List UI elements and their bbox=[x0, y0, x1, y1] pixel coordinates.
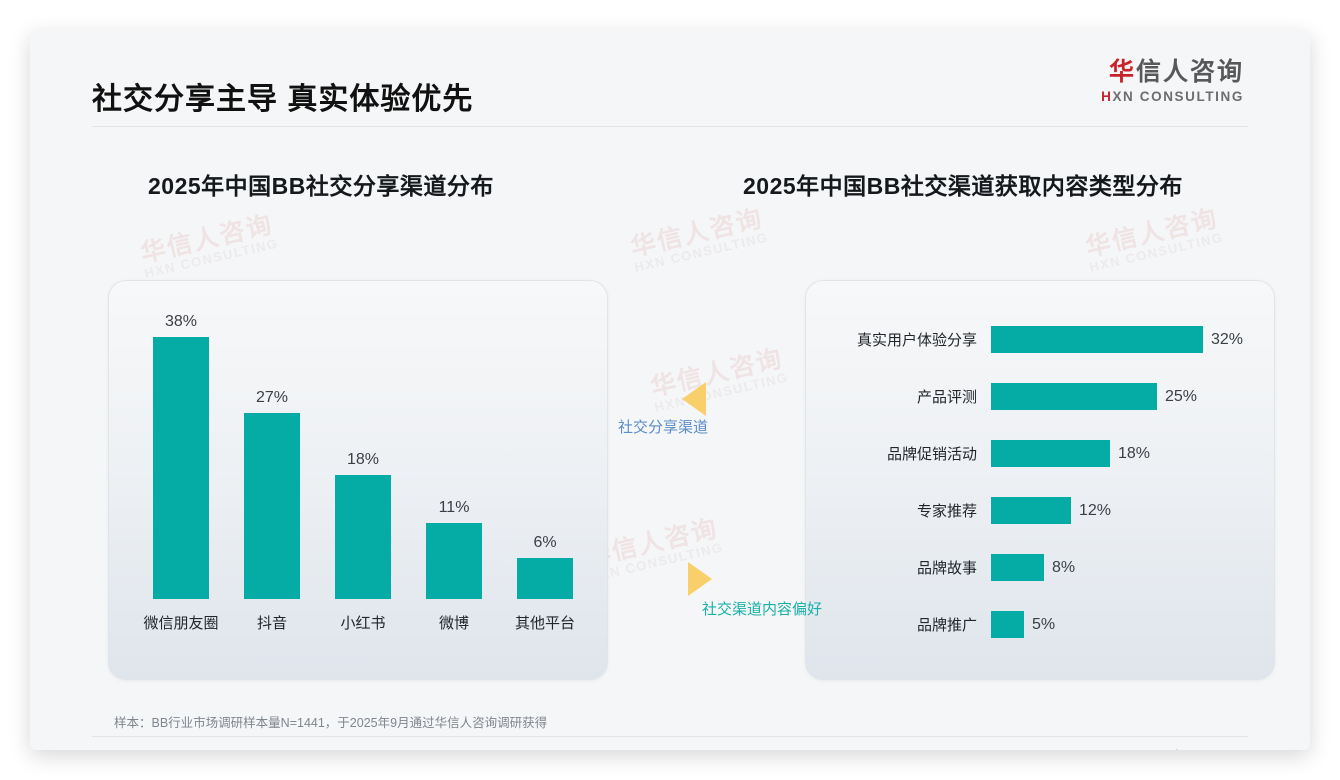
vertical-bar-chart: 38%微信朋友圈27%抖音18%小红书11%微博6%其他平台 bbox=[109, 281, 607, 679]
bar-category-label: 微博 bbox=[406, 612, 502, 633]
bar-rect bbox=[153, 337, 209, 599]
logo-chinese-rest: 信人咨询 bbox=[1136, 58, 1244, 86]
bar-rect bbox=[991, 611, 1024, 638]
bar-rect bbox=[244, 413, 300, 599]
watermark: 华信人咨询 HXN CONSULTING bbox=[137, 211, 280, 281]
bar-category-label: 抖音 bbox=[224, 612, 320, 633]
watermark-cn: 华信人咨询 bbox=[647, 345, 786, 401]
bar-rect bbox=[335, 475, 391, 599]
bar-column: 11% bbox=[426, 499, 482, 599]
bar-category-label: 真实用户体验分享 bbox=[806, 329, 991, 350]
bar-rect bbox=[991, 554, 1044, 581]
watermark-cn: 华信人咨询 bbox=[137, 211, 276, 267]
bar-column: 18% bbox=[335, 451, 391, 599]
bar-value-label: 32% bbox=[1203, 331, 1243, 349]
watermark-cn: 华信人咨询 bbox=[627, 205, 766, 261]
logo-english: HXN CONSULTING bbox=[1101, 89, 1244, 104]
watermark-en: HXN CONSULTING bbox=[143, 237, 280, 281]
middle-label-content-preference: 社交渠道内容偏好 bbox=[702, 598, 822, 619]
footer-divider bbox=[92, 736, 1248, 737]
slide-header: 社交分享主导 真实体验优先 华信人咨询 HXN CONSULTING bbox=[30, 30, 1310, 126]
bar-row: 真实用户体验分享32% bbox=[806, 326, 1274, 353]
watermark-en: HXN CONSULTING bbox=[633, 231, 770, 275]
bar-rect bbox=[991, 497, 1071, 524]
bar-rect bbox=[991, 326, 1203, 353]
bar-column: 38% bbox=[153, 313, 209, 599]
triangle-left-icon bbox=[682, 382, 706, 416]
bar-category-label: 品牌促销活动 bbox=[806, 443, 991, 464]
watermark-en: HXN CONSULTING bbox=[1088, 231, 1225, 275]
page-title: 社交分享主导 真实体验优先 bbox=[92, 74, 473, 118]
bar-value-label: 11% bbox=[439, 499, 470, 517]
brand-logo: 华信人咨询 HXN CONSULTING bbox=[1101, 58, 1244, 104]
bar-row: 专家推荐12% bbox=[806, 497, 1274, 524]
bar-column: 6% bbox=[517, 534, 573, 599]
bar-category-label: 产品评测 bbox=[806, 386, 991, 407]
middle-label-share-channel: 社交分享渠道 bbox=[618, 416, 708, 437]
left-chart-title: 2025年中国BB社交分享渠道分布 bbox=[148, 167, 494, 201]
bar-category-label: 微信朋友圈 bbox=[133, 612, 229, 633]
bar-value-label: 8% bbox=[1044, 559, 1075, 577]
bar-column: 27% bbox=[244, 389, 300, 599]
bar-row: 产品评测25% bbox=[806, 383, 1274, 410]
slide-canvas: 华信人咨询 HXN CONSULTING 华信人咨询 HXN CONSULTIN… bbox=[30, 30, 1310, 750]
bar-value-label: 25% bbox=[1157, 388, 1197, 406]
bar-rect bbox=[426, 523, 482, 599]
bar-value-label: 12% bbox=[1071, 502, 1111, 520]
bar-rect bbox=[991, 440, 1110, 467]
bar-value-label: 27% bbox=[256, 389, 288, 407]
triangle-right-icon bbox=[688, 562, 712, 596]
logo-english-rest: XN CONSULTING bbox=[1112, 89, 1244, 104]
bar-category-label: 专家推荐 bbox=[806, 500, 991, 521]
bar-value-label: 6% bbox=[533, 534, 556, 552]
bar-value-label: 38% bbox=[165, 313, 197, 331]
watermark: 华信人咨询 HXN CONSULTING bbox=[627, 205, 770, 275]
watermark-en: HXN CONSULTING bbox=[653, 371, 790, 415]
footer-copyright: ©2025.11 HXR华信人咨询 bbox=[100, 748, 246, 750]
bar-row: 品牌推广5% bbox=[806, 611, 1274, 638]
logo-chinese: 华信人咨询 bbox=[1101, 58, 1244, 87]
footnote: 样本：BB行业市场调研样本量N=1441，于2025年9月通过华信人咨询调研获得 bbox=[114, 712, 547, 731]
footer-website: www.hxrcon.com bbox=[1146, 748, 1240, 750]
bar-value-label: 18% bbox=[1110, 445, 1150, 463]
middle-annotation-top bbox=[682, 382, 706, 416]
bar-rect bbox=[517, 558, 573, 599]
bar-rect bbox=[991, 383, 1157, 410]
bar-category-label: 其他平台 bbox=[497, 612, 593, 633]
right-chart-card: 真实用户体验分享32%产品评测25%品牌促销活动18%专家推荐12%品牌故事8%… bbox=[805, 280, 1275, 680]
middle-annotation-bottom bbox=[688, 562, 712, 596]
logo-char-hua: 华 bbox=[1109, 58, 1136, 86]
right-chart-title: 2025年中国BB社交渠道获取内容类型分布 bbox=[743, 167, 1183, 201]
bar-category-label: 小红书 bbox=[315, 612, 411, 633]
bar-category-label: 品牌故事 bbox=[806, 557, 991, 578]
header-divider bbox=[92, 126, 1248, 127]
bar-value-label: 18% bbox=[347, 451, 379, 469]
bar-value-label: 5% bbox=[1024, 616, 1055, 634]
watermark: 华信人咨询 HXN CONSULTING bbox=[647, 345, 790, 415]
bar-row: 品牌促销活动18% bbox=[806, 440, 1274, 467]
bar-category-label: 品牌推广 bbox=[806, 614, 991, 635]
watermark-cn: 华信人咨询 bbox=[1082, 205, 1221, 261]
left-chart-card: 38%微信朋友圈27%抖音18%小红书11%微博6%其他平台 bbox=[108, 280, 608, 680]
watermark: 华信人咨询 HXN CONSULTING bbox=[1082, 205, 1225, 275]
logo-char-h: H bbox=[1101, 89, 1112, 104]
bar-row: 品牌故事8% bbox=[806, 554, 1274, 581]
